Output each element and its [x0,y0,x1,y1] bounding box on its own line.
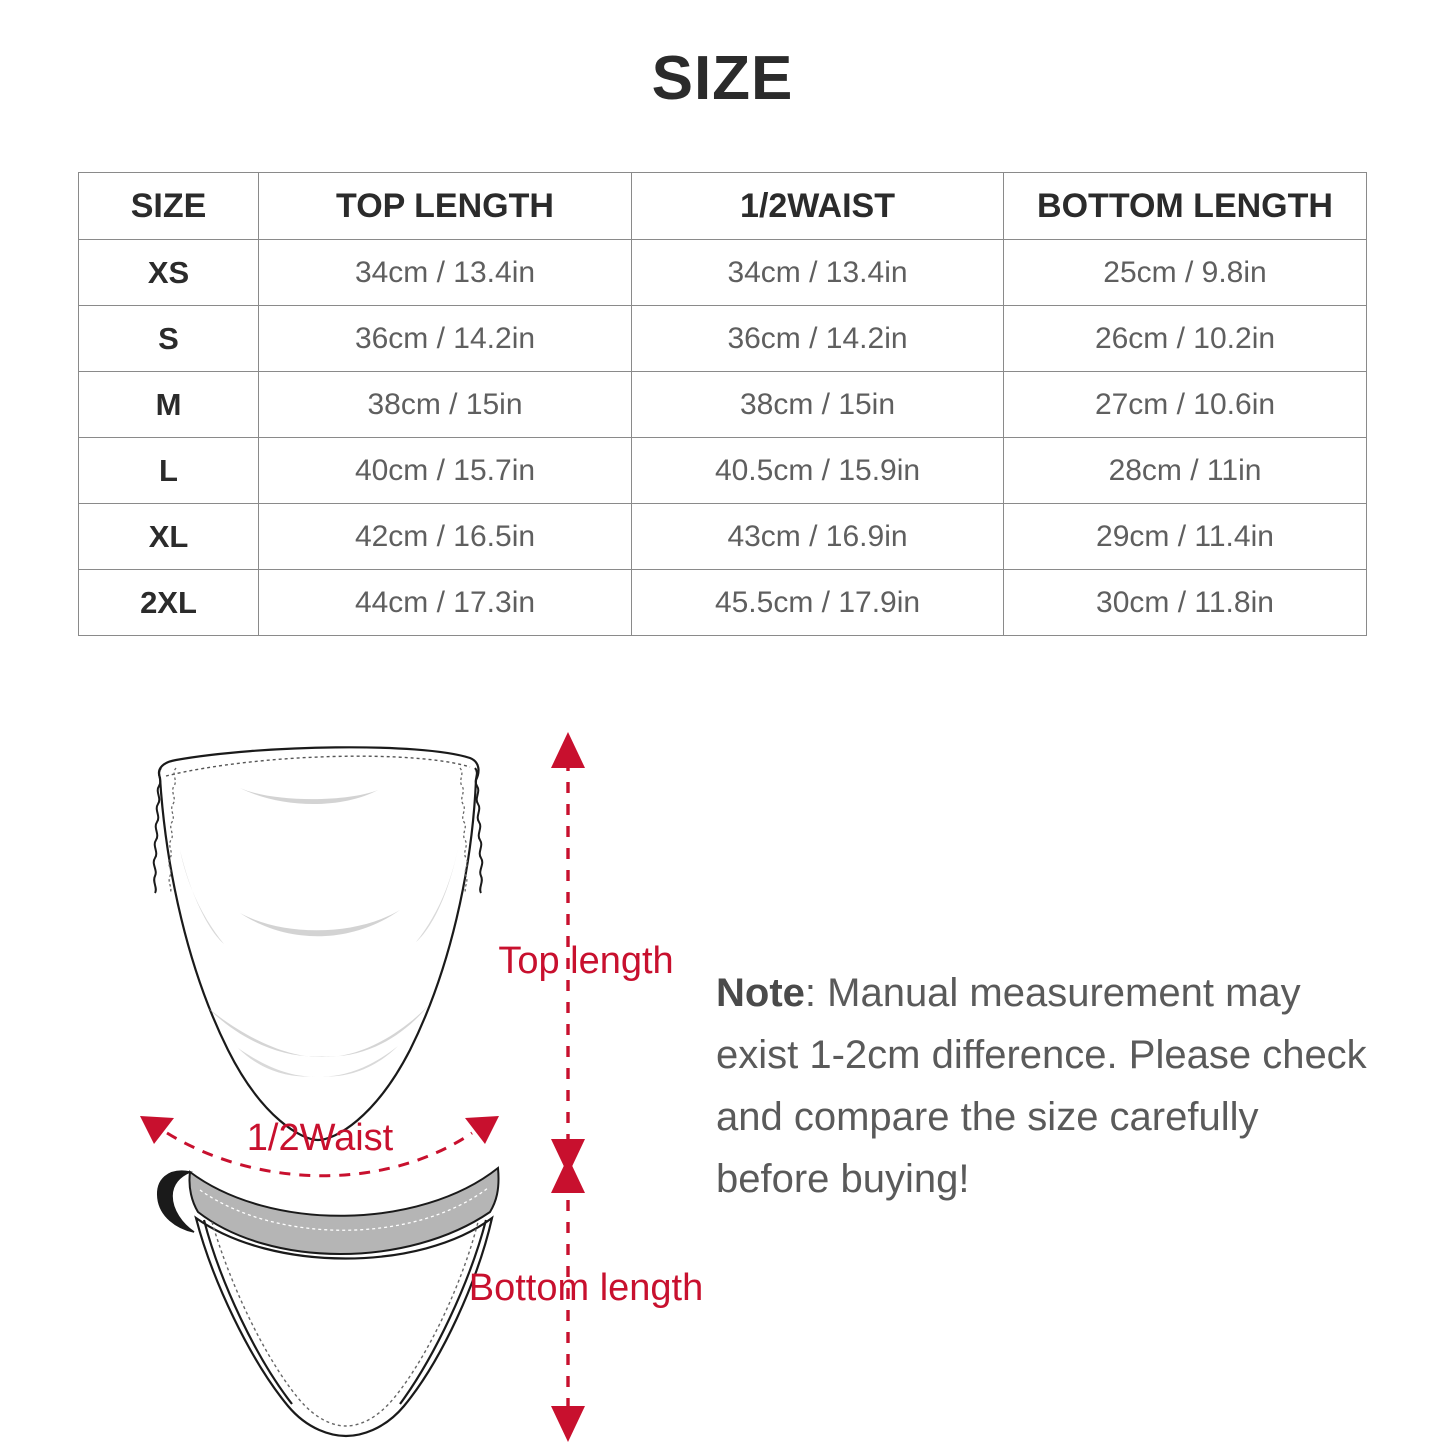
cell-half-waist: 40.5cm / 15.9in [632,438,1004,504]
table-row: M 38cm / 15in 38cm / 15in 27cm / 10.6in [79,372,1367,438]
cell-half-waist: 36cm / 14.2in [632,306,1004,372]
cell-top-length: 36cm / 14.2in [259,306,632,372]
column-header-top-length: TOP LENGTH [259,173,632,240]
cell-bottom-length: 30cm / 11.8in [1004,570,1367,636]
bottom-length-label: Bottom length [469,1267,703,1309]
column-header-half-waist: 1/2WAIST [632,173,1004,240]
note-label: Note [716,971,805,1015]
garment-diagram-svg: 1/2Waist Top length [120,720,740,1450]
cell-half-waist: 43cm / 16.9in [632,504,1004,570]
cell-size: XL [79,504,259,570]
size-table-container: SIZE TOP LENGTH 1/2WAIST BOTTOM LENGTH X… [78,172,1366,636]
table-row: XL 42cm / 16.5in 43cm / 16.9in 29cm / 11… [79,504,1367,570]
column-header-size: SIZE [79,173,259,240]
cell-half-waist: 45.5cm / 17.9in [632,570,1004,636]
cell-top-length: 44cm / 17.3in [259,570,632,636]
bottom-length-down-arrowhead [551,1406,585,1442]
top-garment-body [159,747,479,1140]
column-header-bottom-length: BOTTOM LENGTH [1004,173,1367,240]
table-body: XS 34cm / 13.4in 34cm / 13.4in 25cm / 9.… [79,240,1367,636]
table-row: XS 34cm / 13.4in 34cm / 13.4in 25cm / 9.… [79,240,1367,306]
half-waist-label: 1/2Waist [247,1117,394,1159]
cell-top-length: 40cm / 15.7in [259,438,632,504]
cell-top-length: 42cm / 16.5in [259,504,632,570]
note-block: Note: Manual measurement may exist 1-2cm… [716,962,1376,1210]
table-header-row: SIZE TOP LENGTH 1/2WAIST BOTTOM LENGTH [79,173,1367,240]
cell-size: L [79,438,259,504]
table-row: L 40cm / 15.7in 40.5cm / 15.9in 28cm / 1… [79,438,1367,504]
cell-half-waist: 38cm / 15in [632,372,1004,438]
cell-half-waist: 34cm / 13.4in [632,240,1004,306]
top-garment-illustration [154,747,483,1140]
half-waist-measure: 1/2Waist [140,1116,499,1176]
bottom-length-measure: Bottom length [469,1157,703,1442]
table-row: 2XL 44cm / 17.3in 45.5cm / 17.9in 30cm /… [79,570,1367,636]
bottom-length-up-arrowhead [551,1157,585,1193]
page-title: SIZE [0,48,1445,110]
cell-size: S [79,306,259,372]
cell-size: 2XL [79,570,259,636]
size-table: SIZE TOP LENGTH 1/2WAIST BOTTOM LENGTH X… [78,172,1367,636]
cell-bottom-length: 28cm / 11in [1004,438,1367,504]
table-row: S 36cm / 14.2in 36cm / 14.2in 26cm / 10.… [79,306,1367,372]
table-header: SIZE TOP LENGTH 1/2WAIST BOTTOM LENGTH [79,173,1367,240]
half-waist-right-arrowhead [465,1116,499,1144]
cell-bottom-length: 25cm / 9.8in [1004,240,1367,306]
cell-bottom-length: 26cm / 10.2in [1004,306,1367,372]
cell-bottom-length: 27cm / 10.6in [1004,372,1367,438]
cell-top-length: 38cm / 15in [259,372,632,438]
cell-top-length: 34cm / 13.4in [259,240,632,306]
half-waist-left-arrowhead [140,1116,174,1144]
top-length-measure: Top length [498,732,673,1175]
top-length-up-arrowhead [551,732,585,768]
note-separator: : [805,971,827,1015]
cell-size: M [79,372,259,438]
cell-bottom-length: 29cm / 11.4in [1004,504,1367,570]
top-length-label: Top length [498,940,673,982]
bottom-garment-illustration [158,1168,499,1436]
cell-size: XS [79,240,259,306]
